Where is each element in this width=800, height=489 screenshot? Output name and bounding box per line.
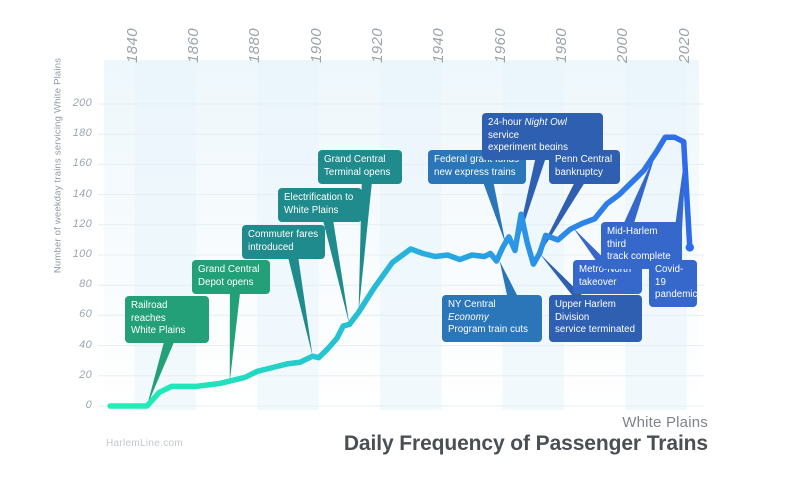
annotation-callout: Grand Central Depot opens: [192, 260, 270, 294]
y-tick-label: 80: [58, 278, 92, 290]
y-tick-label: 100: [58, 248, 92, 260]
x-tick-label: 1900: [308, 28, 325, 63]
line-endpoint-marker: [686, 243, 694, 251]
y-tick-label: 40: [58, 339, 92, 351]
brand-credit: HarlemLine.com: [106, 438, 183, 449]
y-tick-label: 20: [58, 369, 92, 381]
y-tick-label: 60: [58, 308, 92, 320]
x-tick-label: 1980: [553, 28, 570, 63]
annotation-callout: Covid-19 pandemic: [649, 260, 697, 307]
y-tick-label: 140: [58, 188, 92, 200]
x-tick-label: 1880: [246, 28, 263, 63]
x-tick-label: 2000: [614, 28, 631, 63]
annotation-callout: Railroad reaches White Plains: [125, 296, 209, 343]
annotation-callout: Commuter fares introduced: [242, 225, 325, 259]
x-tick-label: 1960: [492, 28, 509, 63]
chart-title: Daily Frequency of Passenger Trains: [344, 432, 708, 456]
x-tick-label: 2020: [676, 28, 693, 63]
annotation-emphasis: Economy: [448, 312, 489, 323]
x-tick-label: 1840: [124, 28, 141, 63]
annotation-callout: Electrification to White Plains: [278, 188, 362, 222]
x-tick-label: 1860: [185, 28, 202, 63]
annotation-emphasis: Night Owl: [524, 117, 566, 128]
y-tick-label: 180: [58, 127, 92, 139]
x-tick-label: 1920: [369, 28, 386, 63]
chart-container: Number of weekday trains servicing White…: [0, 0, 800, 489]
y-tick-label: 0: [58, 399, 92, 411]
y-tick-label: 120: [58, 218, 92, 230]
annotation-callout: Penn Central bankruptcy: [549, 150, 620, 184]
x-tick-label: 1940: [430, 28, 447, 63]
annotation-callout: NY Central Economy Program train cuts: [442, 295, 542, 342]
annotation-callout: Grand Central Terminal opens: [318, 150, 402, 184]
y-tick-label: 160: [58, 157, 92, 169]
annotation-callout: Upper Harlem Division service terminated: [549, 295, 642, 342]
y-tick-label: 200: [58, 97, 92, 109]
chart-supertitle: White Plains: [622, 414, 708, 431]
